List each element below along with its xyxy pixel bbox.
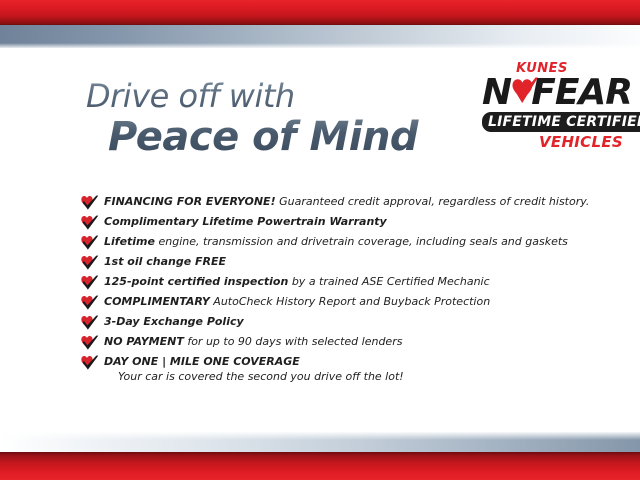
heart-check-bullet-icon: [80, 315, 99, 331]
list-item: 3-Day Exchange Policy: [80, 312, 600, 332]
heart-check-bullet-icon: [80, 275, 99, 291]
top-red-band: [0, 0, 640, 25]
list-item-rest: for up to 90 days with selected lenders: [184, 335, 403, 348]
list-item-bold: COMPLIMENTARY: [104, 295, 210, 308]
logo-word-vehicles: VEHICLES: [530, 135, 632, 150]
list-item-rest: Guaranteed credit approval, regardless o…: [276, 195, 590, 208]
heart-check-bullet-icon: [80, 335, 99, 351]
benefits-list: FINANCING FOR EVERYONE! Guaranteed credi…: [80, 192, 600, 388]
list-item: Lifetime engine, transmission and drivet…: [80, 232, 600, 252]
list-item-text: FINANCING FOR EVERYONE! Guaranteed credi…: [104, 195, 589, 208]
list-item: 125-point certified inspection by a trai…: [80, 272, 600, 292]
list-item-text: 125-point certified inspection by a trai…: [104, 275, 490, 288]
heart-check-bullet-icon: [80, 255, 99, 271]
list-item-text: COMPLIMENTARY AutoCheck History Report a…: [104, 295, 490, 308]
logo-word-fear: FEAR: [531, 76, 632, 110]
heart-check-bullet-icon: [80, 235, 99, 251]
list-item-bold: DAY ONE | MILE ONE COVERAGE: [104, 355, 300, 368]
list-item-bold: 1st oil change FREE: [104, 255, 226, 268]
top-silver-band: [0, 25, 640, 48]
list-item-text: Complimentary Lifetime Powertrain Warran…: [104, 215, 387, 228]
list-item-text: 3-Day Exchange Policy: [104, 315, 244, 328]
list-item: FINANCING FOR EVERYONE! Guaranteed credi…: [80, 192, 600, 212]
list-item-bold: Lifetime: [104, 235, 155, 248]
headline-line-2: Peace of Mind: [108, 114, 466, 160]
list-item: NO PAYMENT for up to 90 days with select…: [80, 332, 600, 352]
list-item-bold: 3-Day Exchange Policy: [104, 315, 244, 328]
list-item-text: NO PAYMENT for up to 90 days with select…: [104, 335, 402, 348]
list-item-subtext: Your car is covered the second you drive…: [118, 369, 600, 384]
list-item: 1st oil change FREE: [80, 252, 600, 272]
logo-certified-text: LIFETIME CERTIFIED: [488, 115, 640, 129]
kunes-no-fear-logo: KUNES N FEAR LIFETIME CERTIFIED VEHICLES: [482, 62, 632, 150]
logo-certified-bar: LIFETIME CERTIFIED: [482, 112, 640, 132]
list-item-text: DAY ONE | MILE ONE COVERAGE: [104, 355, 300, 368]
heart-check-bullet-icon: [80, 355, 99, 371]
list-item-bold: FINANCING FOR EVERYONE!: [104, 195, 276, 208]
list-item-text: 1st oil change FREE: [104, 255, 226, 268]
heart-check-icon: [508, 76, 532, 110]
list-item-rest: by a trained ASE Certified Mechanic: [288, 275, 489, 288]
heart-check-bullet-icon: [80, 195, 99, 211]
list-item: COMPLIMENTARY AutoCheck History Report a…: [80, 292, 600, 312]
logo-no-fear-wordmark: N FEAR: [482, 76, 632, 110]
list-item-text: Lifetime engine, transmission and drivet…: [104, 235, 568, 248]
bottom-red-band: [0, 452, 640, 480]
bottom-silver-band: [0, 432, 640, 452]
headline-line-1: Drive off with: [86, 78, 466, 114]
list-item: DAY ONE | MILE ONE COVERAGE Your car is …: [80, 352, 600, 388]
promo-banner: Drive off with Peace of Mind KUNES N FEA…: [0, 0, 640, 480]
list-item-bold: NO PAYMENT: [104, 335, 184, 348]
list-item-bold: 125-point certified inspection: [104, 275, 288, 288]
list-item-rest: AutoCheck History Report and Buyback Pro…: [210, 295, 490, 308]
list-item: Complimentary Lifetime Powertrain Warran…: [80, 212, 600, 232]
list-item-bold: Complimentary Lifetime Powertrain Warran…: [104, 215, 387, 228]
list-item-rest: engine, transmission and drivetrain cove…: [155, 235, 568, 248]
headline-block: Drive off with Peace of Mind: [86, 78, 466, 160]
logo-letter-n: N: [482, 76, 511, 110]
heart-check-bullet-icon: [80, 295, 99, 311]
heart-check-bullet-icon: [80, 215, 99, 231]
